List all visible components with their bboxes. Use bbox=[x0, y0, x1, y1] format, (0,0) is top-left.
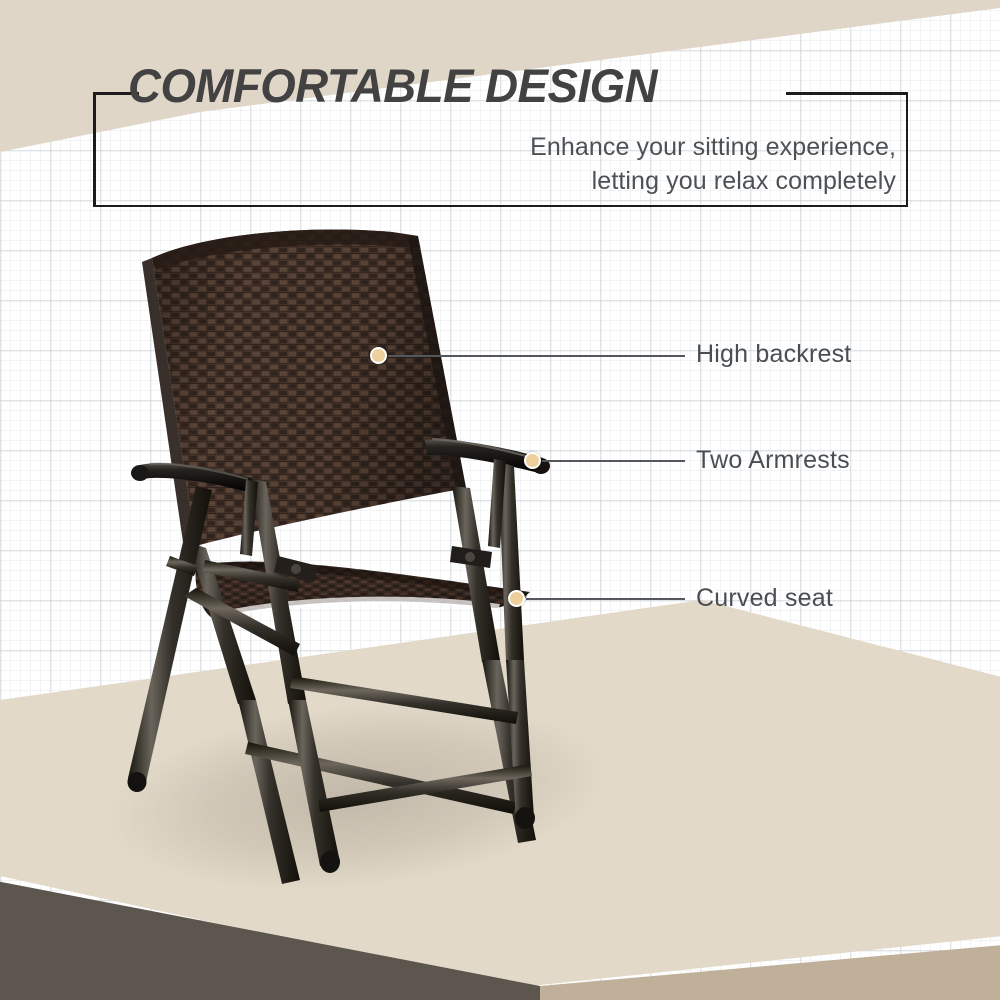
chair-frame-rear bbox=[188, 486, 536, 884]
subtitle-line-1: Enhance your sitting experience, bbox=[376, 130, 896, 164]
callout-label-high-backrest: High backrest bbox=[696, 340, 851, 369]
header-frame-bottom-edge bbox=[93, 205, 908, 208]
chair-backrest bbox=[142, 230, 466, 549]
callout-leader-line-curved-seat bbox=[526, 598, 685, 600]
callout-label-curved-seat: Curved seat bbox=[696, 584, 833, 613]
callout-leader-line-two-armrests bbox=[542, 460, 685, 462]
callout-label-two-armrests: Two Armrests bbox=[696, 446, 850, 475]
header-frame-right-edge bbox=[906, 92, 909, 207]
callout-marker-two-armrests bbox=[524, 452, 541, 469]
infographic-canvas: COMFORTABLE DESIGN Enhance your sitting … bbox=[0, 0, 1000, 1000]
callout-leader-line-high-backrest bbox=[388, 355, 685, 357]
header-frame-top-right-stub bbox=[786, 92, 908, 95]
page-title: COMFORTABLE DESIGN bbox=[128, 58, 657, 113]
callout-marker-high-backrest bbox=[370, 347, 387, 364]
subtitle-line-2: letting you relax completely bbox=[376, 164, 896, 198]
page-subtitle: Enhance your sitting experience, letting… bbox=[376, 130, 896, 198]
callout-marker-curved-seat bbox=[508, 590, 525, 607]
header-frame-left-edge bbox=[93, 92, 96, 207]
